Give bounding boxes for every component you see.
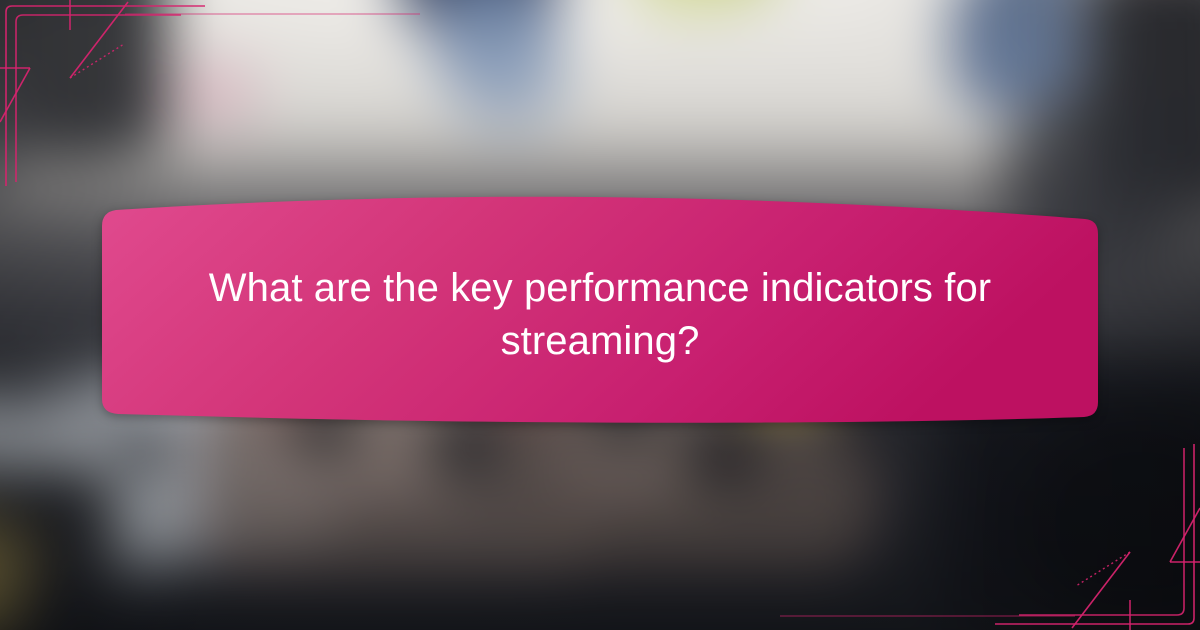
background-blob <box>123 421 168 480</box>
question-text: What are the key performance indicators … <box>205 262 995 368</box>
share-card-canvas: What are the key performance indicators … <box>0 0 1200 630</box>
background-blob <box>1 384 48 420</box>
background-blob <box>70 400 102 428</box>
background-blob <box>452 34 569 129</box>
question-banner-text-area: What are the key performance indicators … <box>100 196 1100 426</box>
question-banner: What are the key performance indicators … <box>100 196 1100 426</box>
background-blob <box>685 421 757 487</box>
background-blob <box>165 55 260 129</box>
